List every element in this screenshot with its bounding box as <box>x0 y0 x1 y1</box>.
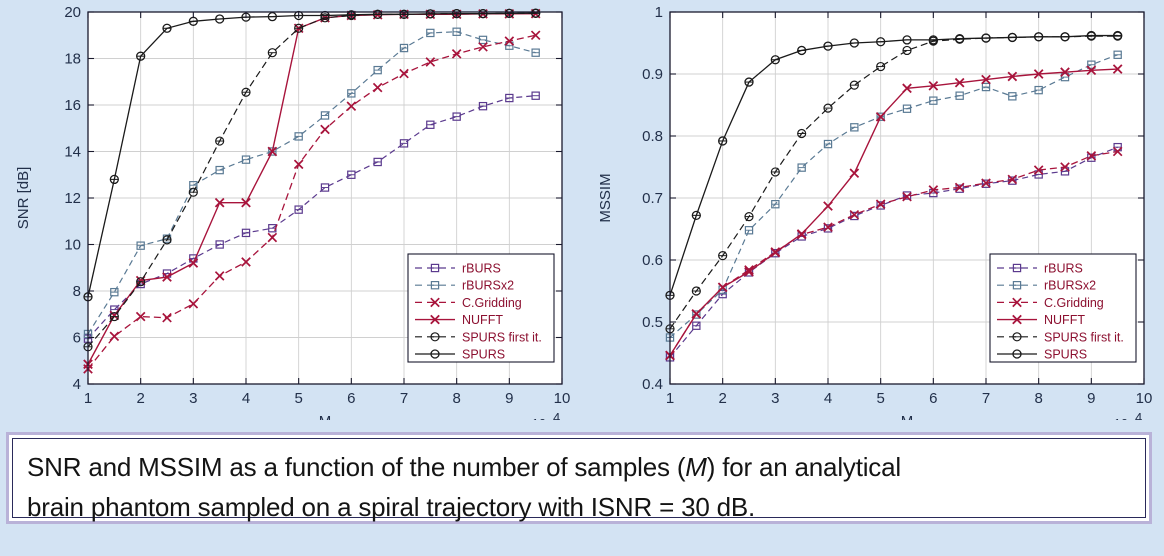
svg-text:4: 4 <box>553 410 560 420</box>
ytick-label: 0.8 <box>642 128 663 145</box>
xtick-label: 10 <box>1136 390 1153 407</box>
ytick-label: 0.7 <box>642 190 663 207</box>
ytick-label: 12 <box>64 190 81 207</box>
y-axis-title-mssim: MSSIM <box>597 173 614 222</box>
ytick-label: 6 <box>73 330 81 347</box>
xtick-label: 8 <box>452 390 460 407</box>
xtick-label: 1 <box>84 390 92 407</box>
x-axis-title-snr: M <box>319 413 332 420</box>
ytick-label: 10 <box>64 237 81 254</box>
legend-label: NUFFT <box>1044 313 1085 327</box>
figure-root: 46810121416182012345678910MSNR [dB]×104r… <box>0 0 1164 556</box>
x-axis-exponent-snr: ×104 <box>524 410 560 420</box>
legend-label: rBURS <box>1044 262 1083 276</box>
ytick-label: 4 <box>73 376 81 393</box>
xtick-label: 4 <box>242 390 250 407</box>
chart-snr: 46810121416182012345678910MSNR [dB]×104r… <box>0 0 582 420</box>
ytick-label: 20 <box>64 4 81 21</box>
legend-label: NUFFT <box>462 313 503 327</box>
xtick-label: 2 <box>718 390 726 407</box>
caption-line-1-part-a: SNR and MSSIM as a function of the numbe… <box>27 452 685 482</box>
xtick-label: 5 <box>876 390 884 407</box>
legend-label: rBURS <box>462 262 501 276</box>
xtick-label: 7 <box>400 390 408 407</box>
svg-text:×10: ×10 <box>524 416 546 420</box>
svg-text:×10: ×10 <box>1106 416 1128 420</box>
x-axis-exponent-mssim: ×104 <box>1106 410 1142 420</box>
xtick-label: 3 <box>189 390 197 407</box>
ytick-label: 8 <box>73 283 81 300</box>
xtick-label: 9 <box>505 390 513 407</box>
xtick-label: 3 <box>771 390 779 407</box>
ytick-label: 0.9 <box>642 66 663 83</box>
xtick-label: 7 <box>982 390 990 407</box>
legend-snr[interactable]: rBURSrBURSx2C.GriddingNUFFTSPURS first i… <box>408 254 554 362</box>
legend-label: SPURS first it. <box>1044 330 1124 344</box>
legend-label: SPURS <box>462 348 505 362</box>
y-axis-title-snr: SNR [dB] <box>15 167 32 230</box>
x-axis-title-mssim: M <box>901 413 914 420</box>
ytick-label: 18 <box>64 51 81 68</box>
xtick-label: 8 <box>1034 390 1042 407</box>
svg-text:4: 4 <box>1135 410 1142 420</box>
xtick-label: 6 <box>347 390 355 407</box>
legend-label: C.Gridding <box>462 296 522 310</box>
charts-row: 46810121416182012345678910MSNR [dB]×104r… <box>0 0 1164 420</box>
legend-label: rBURSx2 <box>1044 279 1096 293</box>
caption-inner: SNR and MSSIM as a function of the numbe… <box>12 438 1146 518</box>
caption-symbol-m: M <box>685 452 706 482</box>
ytick-label: 1 <box>655 4 663 21</box>
chart-svg-mssim: 0.40.50.60.70.80.9112345678910MMSSIM×104… <box>582 0 1164 420</box>
legend-label: rBURSx2 <box>462 279 514 293</box>
ytick-label: 14 <box>64 144 81 161</box>
caption-line-2: brain phantom sampled on a spiral trajec… <box>27 487 1131 527</box>
ytick-label: 0.5 <box>642 314 663 331</box>
caption-box: SNR and MSSIM as a function of the numbe… <box>6 432 1152 524</box>
ytick-label: 16 <box>64 97 81 114</box>
xtick-label: 6 <box>929 390 937 407</box>
ytick-label: 0.6 <box>642 252 663 269</box>
legend-label: SPURS first it. <box>462 330 542 344</box>
xtick-label: 9 <box>1087 390 1095 407</box>
xtick-label: 10 <box>554 390 571 407</box>
xtick-label: 5 <box>294 390 302 407</box>
chart-mssim: 0.40.50.60.70.80.9112345678910MMSSIM×104… <box>582 0 1164 420</box>
xtick-label: 2 <box>136 390 144 407</box>
legend-mssim[interactable]: rBURSrBURSx2C.GriddingNUFFTSPURS first i… <box>990 254 1136 362</box>
legend-label: SPURS <box>1044 348 1087 362</box>
caption-line-1-part-b: ) for an analytical <box>707 452 901 482</box>
xtick-label: 4 <box>824 390 832 407</box>
chart-svg-snr: 46810121416182012345678910MSNR [dB]×104r… <box>0 0 582 420</box>
legend-label: C.Gridding <box>1044 296 1104 310</box>
caption-line-1: SNR and MSSIM as a function of the numbe… <box>27 447 1131 487</box>
ytick-label: 0.4 <box>642 376 663 393</box>
xtick-label: 1 <box>666 390 674 407</box>
